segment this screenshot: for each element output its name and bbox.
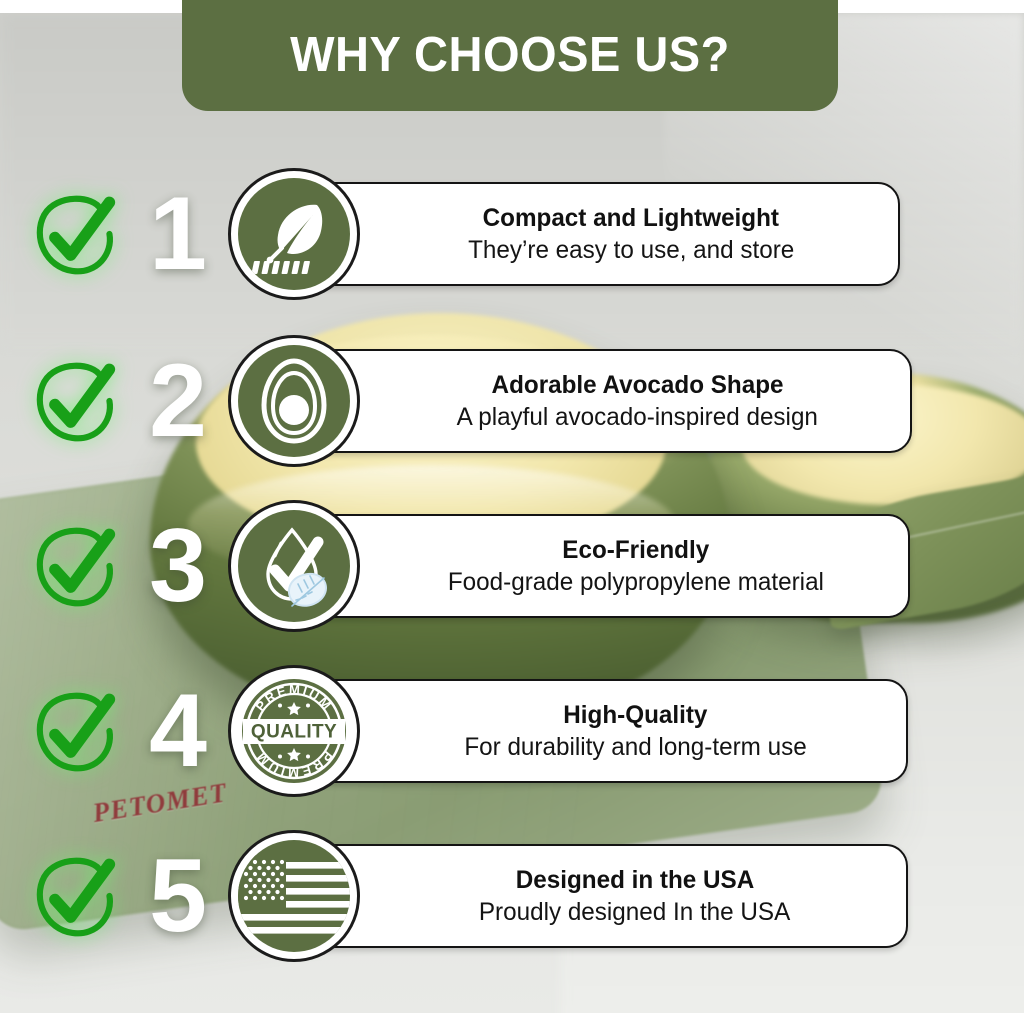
feature-row-1: 1 xyxy=(0,160,1024,308)
feature-row-2: 2 Adorable Avocado Shape A playful avoca… xyxy=(0,327,1024,475)
feature-subtitle: A playful avocado-inspired design xyxy=(394,402,817,432)
feature-card: Compact and Lightweight They’re easy to … xyxy=(300,182,900,286)
feature-subtitle: Food-grade polypropylene material xyxy=(386,567,824,597)
feature-row-3: 3 xyxy=(0,492,1024,640)
feature-row-5: 5 xyxy=(0,822,1024,970)
feature-subtitle: They’re easy to use, and store xyxy=(406,235,794,265)
feature-number: 2 xyxy=(132,343,224,459)
feature-subtitle: Proudly designed In the USA xyxy=(417,897,790,927)
check-circle-icon xyxy=(32,687,120,775)
feature-title: Compact and Lightweight xyxy=(421,204,779,232)
check-circle-icon xyxy=(32,357,120,445)
check-circle-icon xyxy=(32,190,120,278)
feature-title: Adorable Avocado Shape xyxy=(429,371,783,399)
feature-title: Eco-Friendly xyxy=(501,536,710,564)
feature-card: Eco-Friendly Food-grade polypropylene ma… xyxy=(300,514,910,618)
feature-number: 5 xyxy=(132,838,224,954)
seal-center-text: QUALITY xyxy=(251,722,337,743)
premium-quality-seal-icon: PREMIUM PREMIUM QUALITY xyxy=(228,665,360,797)
feature-title: High-Quality xyxy=(501,701,707,729)
feather-icon xyxy=(228,168,360,300)
check-circle-icon xyxy=(32,852,120,940)
feature-number: 1 xyxy=(132,176,224,292)
feature-card: Designed in the USA Proudly designed In … xyxy=(300,844,908,948)
feature-list: 1 xyxy=(0,0,1024,1024)
eco-droplet-leaf-icon xyxy=(228,500,360,632)
header-banner: WHY CHOOSE US? xyxy=(182,0,838,111)
feature-card: High-Quality For durability and long-ter… xyxy=(300,679,908,783)
feature-number: 3 xyxy=(132,508,224,624)
check-circle-icon xyxy=(32,522,120,610)
usa-flag-icon xyxy=(228,830,360,962)
infographic-canvas: PETOMET WHY CHOOSE US? 1 xyxy=(0,0,1024,1024)
avocado-icon xyxy=(228,335,360,467)
feature-title: Designed in the USA xyxy=(454,866,755,894)
page-title: WHY CHOOSE US? xyxy=(290,31,730,80)
feature-number: 4 xyxy=(132,673,224,789)
feature-row-4: 4 PREMIUM xyxy=(0,657,1024,805)
feature-card: Adorable Avocado Shape A playful avocado… xyxy=(300,349,912,453)
feature-subtitle: For durability and long-term use xyxy=(402,732,806,762)
